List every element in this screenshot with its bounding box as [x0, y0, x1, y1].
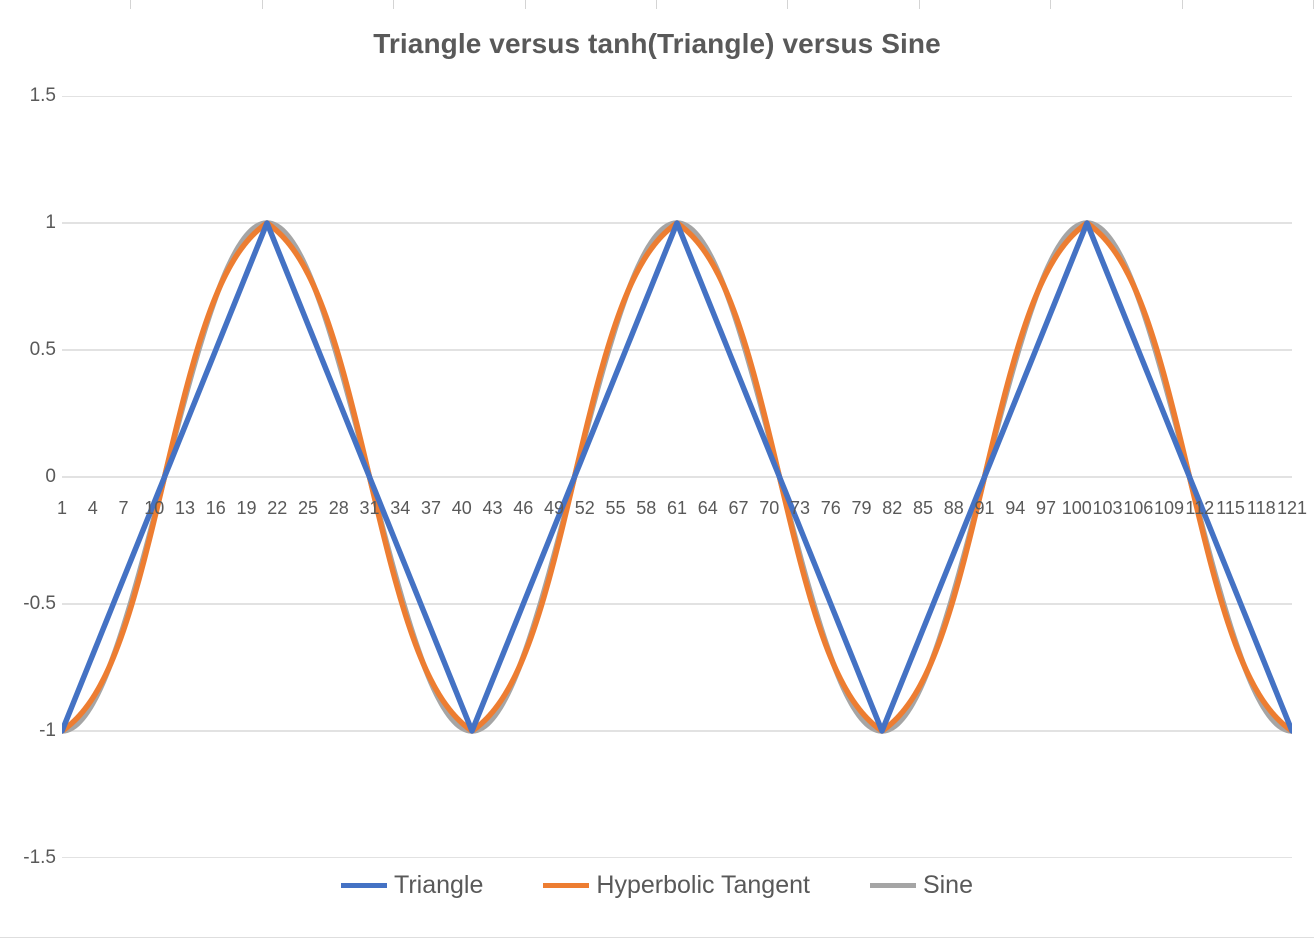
chart-area[interactable]: Triangle versus tanh(Triangle) versus Si…	[0, 9, 1314, 937]
spreadsheet-cell[interactable]	[394, 0, 525, 9]
x-axis-tick-label: 25	[298, 498, 318, 519]
spreadsheet-cell[interactable]	[526, 0, 657, 9]
spreadsheet-cell[interactable]	[1051, 0, 1182, 9]
series-canvas	[62, 96, 1292, 858]
x-axis-tick-label: 37	[421, 498, 441, 519]
x-axis-tick-label: 82	[882, 498, 902, 519]
x-axis-tick-label: 106	[1123, 498, 1153, 519]
legend-item-sine[interactable]: Sine	[870, 873, 973, 898]
legend-item-triangle[interactable]: Triangle	[341, 873, 483, 898]
spreadsheet-cell[interactable]	[0, 0, 131, 9]
x-axis-tick-label: 70	[759, 498, 779, 519]
x-axis-tick-label: 49	[544, 498, 564, 519]
x-axis-tick-label: 52	[575, 498, 595, 519]
legend-item-hyperbolic-tangent[interactable]: Hyperbolic Tangent	[543, 873, 810, 898]
spreadsheet-cell[interactable]	[788, 0, 919, 9]
x-axis-tick-label: 46	[513, 498, 533, 519]
x-axis-tick-label: 109	[1154, 498, 1184, 519]
legend-label: Triangle	[394, 873, 483, 898]
x-axis-tick-label: 94	[1005, 498, 1025, 519]
x-axis-tick-label: 58	[636, 498, 656, 519]
x-axis-tick-label: 22	[267, 498, 287, 519]
y-axis-tick-label: -1	[10, 720, 56, 742]
y-axis-tick-label: 1	[10, 212, 56, 234]
x-axis-tick-label: 7	[118, 498, 128, 519]
x-axis-tick-label: 76	[821, 498, 841, 519]
plot-area	[62, 96, 1292, 858]
x-axis-tick-label: 34	[390, 498, 410, 519]
spreadsheet-bottom-edge	[0, 937, 1314, 951]
x-axis-tick-label: 103	[1092, 498, 1122, 519]
x-axis-tick-label: 4	[88, 498, 98, 519]
legend-color-swatch	[341, 883, 387, 888]
x-axis-tick-label: 85	[913, 498, 933, 519]
x-axis-tick-label: 67	[728, 498, 748, 519]
chart-title: Triangle versus tanh(Triangle) versus Si…	[0, 28, 1314, 60]
x-axis-tick-label: 112	[1185, 498, 1214, 519]
y-axis-tick-label: 0	[10, 466, 56, 488]
x-axis-tick-label: 118	[1247, 498, 1276, 519]
gridlines	[62, 96, 1292, 858]
x-axis-tick-label: 28	[329, 498, 349, 519]
y-axis-tick-label: 1.5	[10, 85, 56, 107]
legend-label: Hyperbolic Tangent	[596, 873, 810, 898]
chart-legend[interactable]: TriangleHyperbolic TangentSine	[0, 861, 1314, 909]
x-axis-tick-label: 64	[698, 498, 718, 519]
x-axis-tick-label: 61	[667, 498, 687, 519]
x-axis-tick-label: 121	[1277, 498, 1307, 519]
x-axis-tick-label: 91	[974, 498, 994, 519]
x-axis-tick-label: 19	[236, 498, 256, 519]
x-axis-tick-label: 100	[1062, 498, 1092, 519]
spreadsheet-cell[interactable]	[263, 0, 394, 9]
legend-label: Sine	[923, 873, 973, 898]
x-axis-tick-label: 115	[1216, 498, 1245, 519]
x-axis-tick-label: 16	[206, 498, 226, 519]
x-axis-tick-label: 1	[57, 498, 67, 519]
x-axis-tick-label: 79	[851, 498, 871, 519]
x-axis-tick-label: 31	[359, 498, 379, 519]
spreadsheet-cell[interactable]	[1183, 0, 1314, 9]
x-axis-tick-label: 40	[452, 498, 472, 519]
spreadsheet-cell[interactable]	[131, 0, 262, 9]
y-axis-labels: 1.510.50-0.5-1-1.5	[0, 96, 56, 858]
x-axis-tick-label: 88	[944, 498, 964, 519]
x-axis-labels: 1471013161922252831343740434649525558616…	[0, 498, 1314, 524]
spreadsheet-cell[interactable]	[657, 0, 788, 9]
y-axis-tick-label: -0.5	[10, 593, 56, 615]
x-axis-tick-label: 13	[175, 498, 195, 519]
x-axis-tick-label: 43	[482, 498, 502, 519]
legend-color-swatch	[543, 883, 589, 888]
legend-color-swatch	[870, 883, 916, 888]
x-axis-tick-label: 97	[1036, 498, 1056, 519]
x-axis-tick-label: 73	[790, 498, 810, 519]
y-axis-tick-label: 0.5	[10, 339, 56, 361]
x-axis-tick-label: 55	[605, 498, 625, 519]
spreadsheet-cell[interactable]	[920, 0, 1051, 9]
x-axis-tick-label: 10	[144, 498, 164, 519]
